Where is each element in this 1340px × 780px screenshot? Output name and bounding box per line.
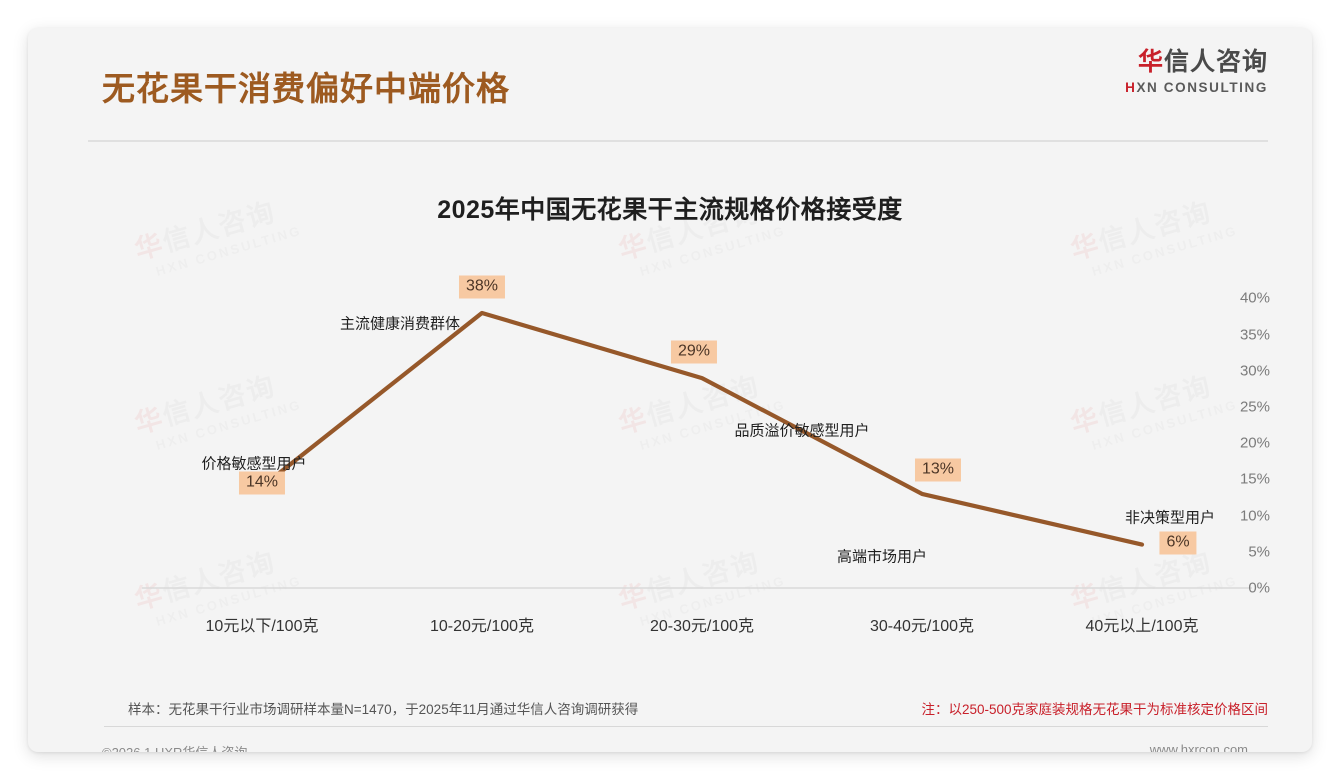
series-annotation: 非决策型用户 — [1125, 506, 1215, 527]
footer-notes: 样本：无花果干行业市场调研样本量N=1470，于2025年11月通过华信人咨询调… — [104, 696, 1268, 727]
series-annotation: 品质溢价敏感型用户 — [734, 420, 869, 441]
x-axis-tick-label: 20-30元/100克 — [650, 612, 754, 636]
series-annotation: 价格敏感型用户 — [201, 452, 306, 473]
remark-note: 注：以250-500克家庭装规格无花果干为标准核定价格区间 — [921, 698, 1268, 718]
data-point-label: 29% — [671, 341, 717, 364]
logo-en-accent: H — [1125, 80, 1136, 95]
x-axis-labels: 10元以下/100克10-20元/100克20-30元/100克30-40元/1… — [80, 250, 1270, 650]
website-link[interactable]: www.hxrcon.com — [1150, 742, 1248, 752]
data-point-label: 14% — [239, 471, 285, 494]
slide-header: 无花果干消费偏好中端价格 华信人咨询 HXN CONSULTING — [28, 28, 1312, 140]
slide-card: 华信人咨询 HXN CONSULTING 华信人咨询 HXN CONSULTIN… — [28, 28, 1312, 752]
x-axis-tick-label: 10元以下/100克 — [206, 612, 319, 636]
footer-bar: ©2026.1 HXR华信人咨询 www.hxrcon.com — [28, 734, 1312, 752]
page-title: 无花果干消费偏好中端价格 — [102, 62, 510, 110]
series-annotation: 高端市场用户 — [837, 545, 927, 566]
sample-note: 样本：无花果干行业市场调研样本量N=1470，于2025年11月通过华信人咨询调… — [128, 698, 638, 718]
copyright-text: ©2026.1 HXR华信人咨询 — [102, 742, 247, 752]
x-axis-tick-label: 40元以上/100克 — [1086, 612, 1199, 636]
logo-cn-accent: 华 — [1138, 48, 1164, 76]
chart-title: 2025年中国无花果干主流规格价格接受度 — [28, 190, 1312, 226]
header-divider — [88, 140, 1268, 142]
series-annotation: 主流健康消费群体 — [340, 312, 460, 333]
x-axis-tick-label: 30-40元/100克 — [870, 612, 974, 636]
data-point-label: 38% — [459, 275, 505, 298]
data-point-label: 13% — [915, 458, 961, 481]
chart-plot-area: 0%5%10%15%20%25%30%35%40% 10元以下/100克10-2… — [80, 250, 1270, 650]
logo-en-rest: XN CONSULTING — [1136, 80, 1268, 95]
data-point-label: 6% — [1159, 531, 1196, 554]
x-axis-tick-label: 10-20元/100克 — [430, 612, 534, 636]
brand-logo: 华信人咨询 HXN CONSULTING — [1125, 48, 1268, 95]
logo-cn-rest: 信人咨询 — [1164, 48, 1268, 76]
